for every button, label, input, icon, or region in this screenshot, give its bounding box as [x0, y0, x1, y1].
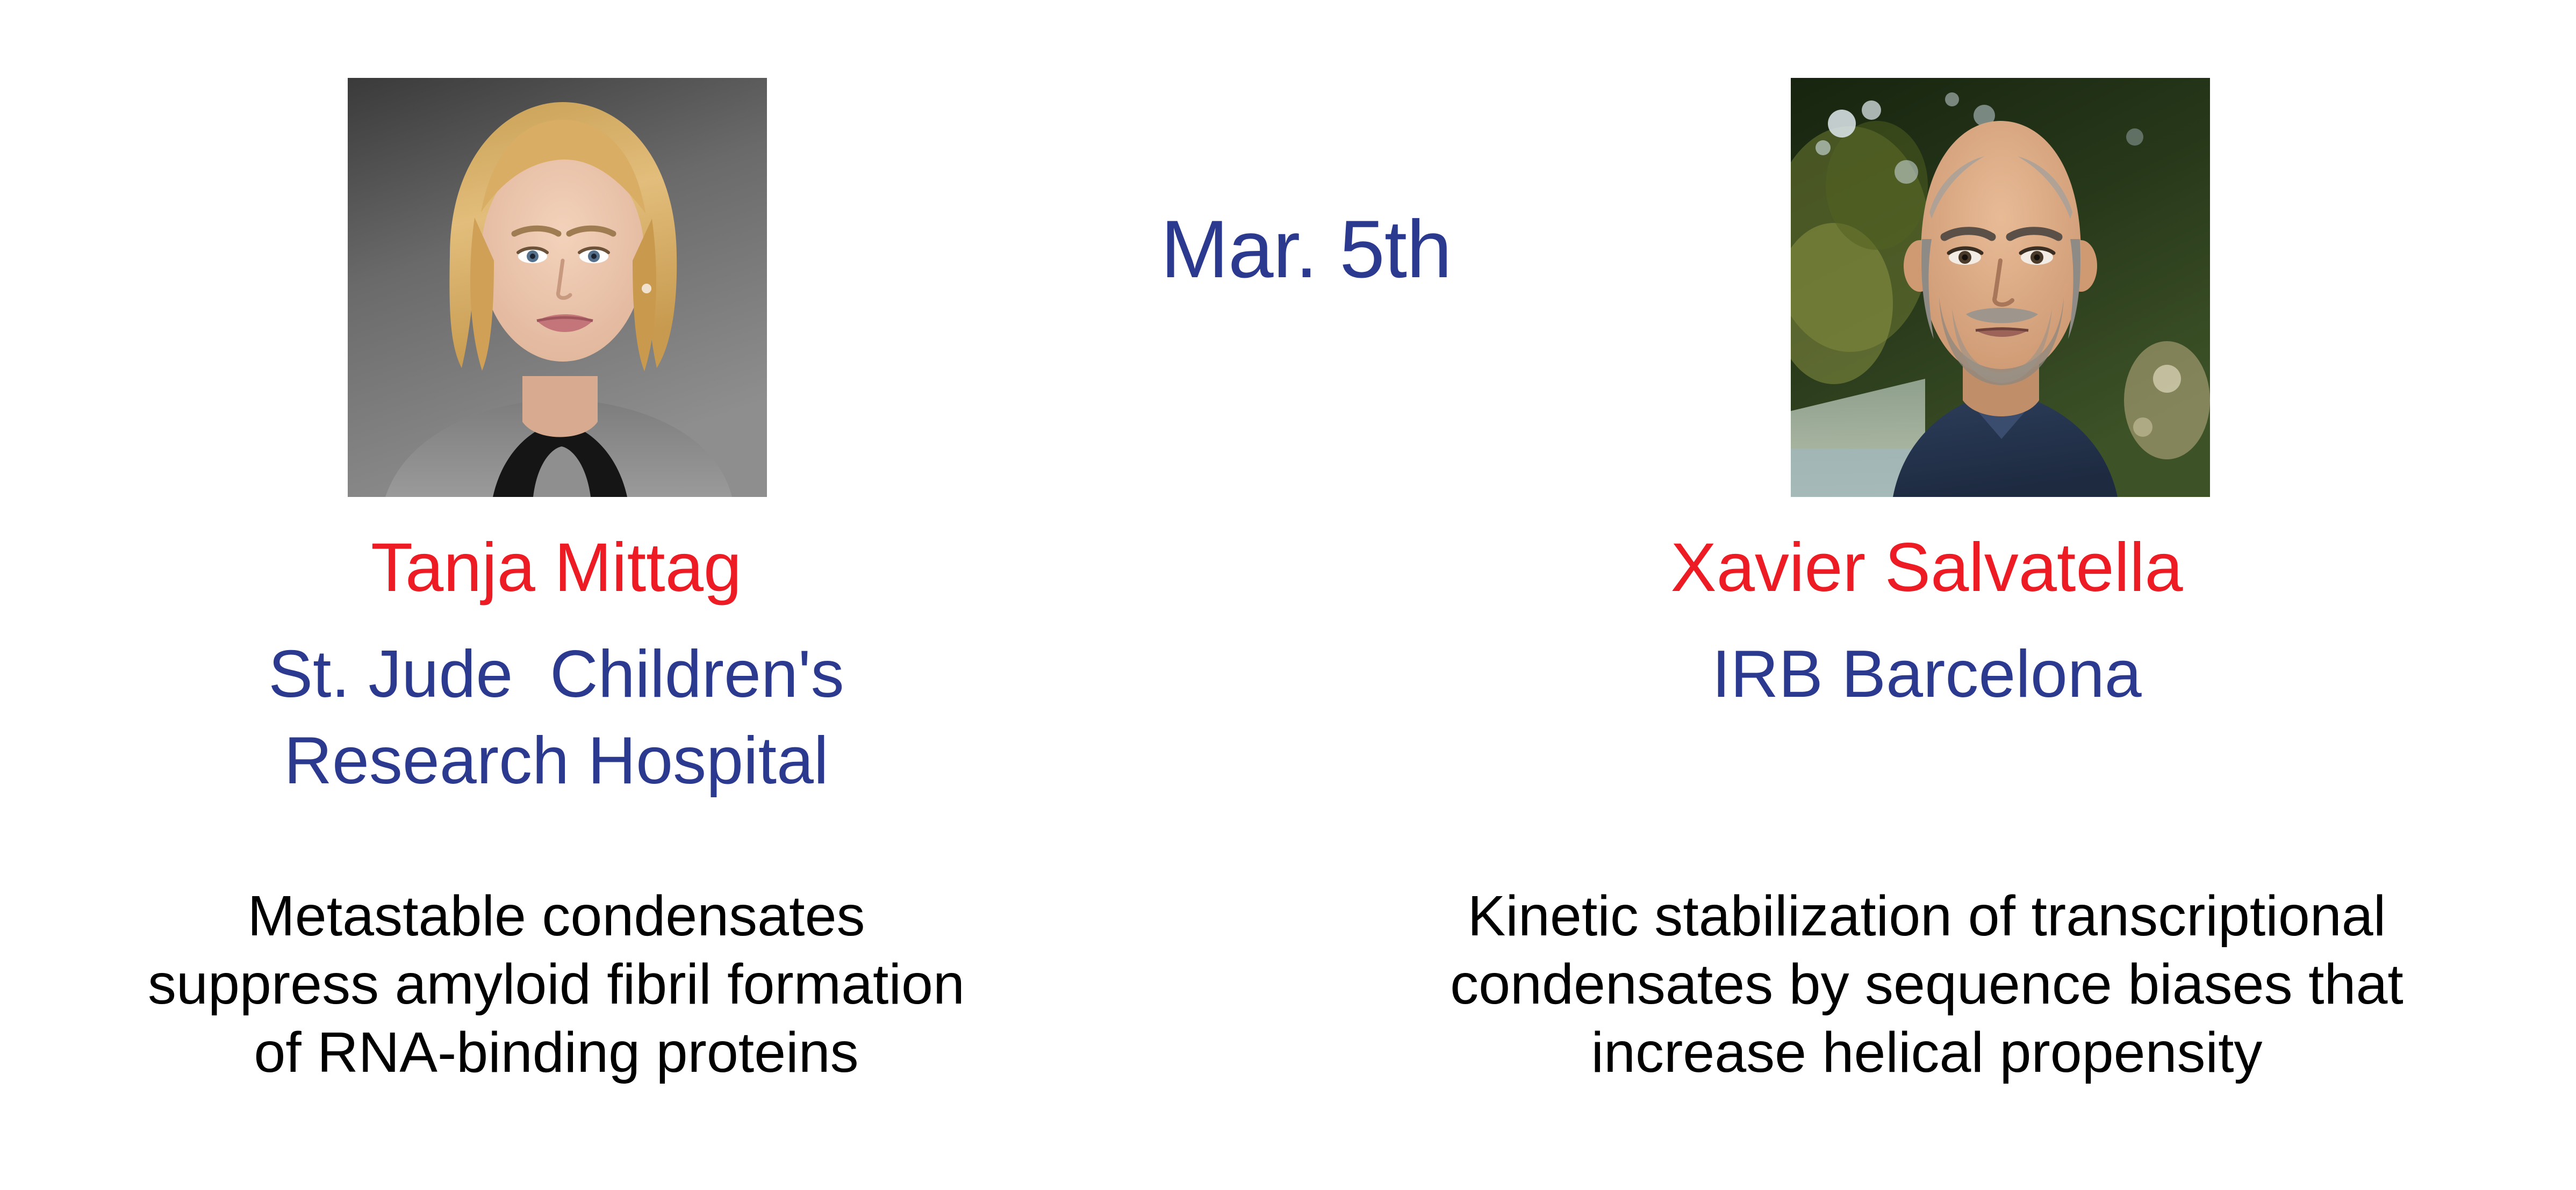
affiliation-line: St. Jude Children's [32, 631, 1080, 718]
speaker-photo-tanja-mittag [348, 78, 767, 497]
talk-title-line: Metastable condensates [32, 882, 1080, 950]
talk-title-tanja-mittag: Metastable condensates suppress amyloid … [32, 882, 1080, 1087]
speaker-affiliation-tanja-mittag: St. Jude Children's Research Hospital [32, 631, 1080, 804]
affiliation-line: Research Hospital [32, 718, 1080, 804]
talk-title-line: increase helical propensity [1301, 1019, 2553, 1087]
talk-title-xavier-salvatella: Kinetic stabilization of transcriptional… [1301, 882, 2553, 1087]
speaker-card-right: Xavier Salvatella IRB Barcelona Kinetic … [1301, 0, 2553, 1190]
speaker-card-left: Tanja Mittag St. Jude Children's Researc… [32, 0, 1080, 1190]
speaker-name-tanja-mittag: Tanja Mittag [32, 531, 1080, 605]
speaker-affiliation-xavier-salvatella: IRB Barcelona [1301, 631, 2553, 718]
speaker-name-xavier-salvatella: Xavier Salvatella [1301, 531, 2553, 605]
talk-title-line: Kinetic stabilization of transcriptional [1301, 882, 2553, 950]
talk-title-line: of RNA-binding proteins [32, 1019, 1080, 1087]
affiliation-line: IRB Barcelona [1301, 631, 2553, 718]
speaker-photo-xavier-salvatella [1791, 78, 2210, 497]
talk-title-line: suppress amyloid fibril formation [32, 950, 1080, 1019]
talk-title-line: condensates by sequence biases that [1301, 950, 2553, 1019]
seminar-announcement-slide: Mar. 5th [0, 0, 2576, 1190]
